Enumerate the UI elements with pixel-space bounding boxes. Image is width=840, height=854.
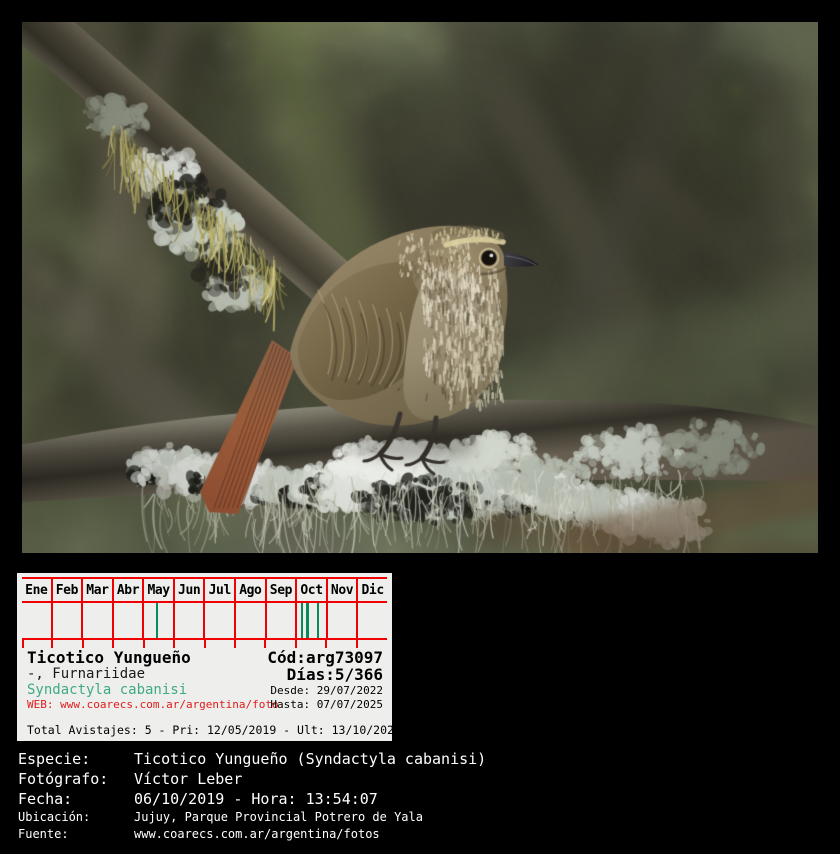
month-sighting-area xyxy=(53,603,82,638)
record-code: Cód:arg73097 xyxy=(233,649,383,666)
month-column-dic[interactable]: Dic xyxy=(358,579,387,638)
month-label: Nov xyxy=(331,584,353,597)
month-header-cell: Ago xyxy=(236,579,265,603)
month-sighting-area xyxy=(205,603,234,638)
caption-value: Ticotico Yungueño (Syndactyla cabanisi) xyxy=(134,750,486,768)
month-tick-stubs xyxy=(22,640,387,648)
month-sighting-area xyxy=(297,603,326,638)
month-label: Jun xyxy=(178,584,200,597)
month-label: Feb xyxy=(56,584,78,597)
days-count: Días:5/366 xyxy=(233,666,383,684)
month-header-cell: May xyxy=(144,579,173,603)
month-stub xyxy=(265,640,295,648)
month-header-cell: Abr xyxy=(114,579,143,603)
caption-row: Fuente:www.coarecs.com.ar/argentina/foto… xyxy=(18,827,818,844)
month-header-cell: Feb xyxy=(53,579,82,603)
caption-value[interactable]: www.coarecs.com.ar/argentina/fotos xyxy=(134,827,380,841)
month-header-cell: Dic xyxy=(358,579,387,603)
month-stub xyxy=(296,640,326,648)
sighting-tick xyxy=(306,603,309,638)
caption-label: Ubicación: xyxy=(18,810,126,824)
month-column-oct[interactable]: Oct xyxy=(297,579,328,638)
sighting-summary-card: EneFebMarAbrMayJunJulAgoSepOctNovDic Tic… xyxy=(17,573,392,741)
caption-label: Especie: xyxy=(18,750,126,768)
month-sighting-area xyxy=(144,603,173,638)
month-column-mar[interactable]: Mar xyxy=(83,579,114,638)
month-label: Sep xyxy=(270,584,292,597)
month-columns: EneFebMarAbrMayJunJulAgoSepOctNovDic xyxy=(22,579,387,638)
caption-label: Fotógrafo: xyxy=(18,770,126,788)
month-column-nov[interactable]: Nov xyxy=(328,579,359,638)
month-label: May xyxy=(147,584,169,597)
month-sighting-area xyxy=(236,603,265,638)
month-column-sep[interactable]: Sep xyxy=(267,579,298,638)
month-stub xyxy=(205,640,235,648)
month-column-may[interactable]: May xyxy=(144,579,175,638)
range-from: Desde: 29/07/2022 xyxy=(233,684,383,698)
bird-photo-canvas xyxy=(22,22,818,553)
month-sighting-area xyxy=(22,603,51,638)
sighting-tick xyxy=(301,603,303,638)
month-stub xyxy=(52,640,82,648)
month-label: Ago xyxy=(239,584,261,597)
total-sightings-line: Total Avistajes: 5 - Pri: 12/05/2019 - U… xyxy=(27,724,401,737)
month-column-ago[interactable]: Ago xyxy=(236,579,267,638)
caption-value: Jujuy, Parque Provincial Potrero de Yala xyxy=(134,810,423,824)
month-sighting-area xyxy=(358,603,387,638)
month-column-jul[interactable]: Jul xyxy=(205,579,236,638)
month-stub xyxy=(113,640,143,648)
photo-caption-block: Especie:Ticotico Yungueño (Syndactyla ca… xyxy=(18,750,818,844)
month-stub xyxy=(83,640,113,648)
sighting-tick xyxy=(156,603,158,638)
card-text-body: Ticotico Yungueño -, Furnariidae Syndact… xyxy=(17,649,392,741)
month-header-cell: Ene xyxy=(22,579,51,603)
month-label: Jul xyxy=(209,584,231,597)
month-stub xyxy=(357,640,387,648)
month-label: Mar xyxy=(86,584,108,597)
month-header-cell: Mar xyxy=(83,579,112,603)
month-sighting-area xyxy=(267,603,296,638)
month-label: Dic xyxy=(362,584,384,597)
month-stub xyxy=(326,640,356,648)
month-stub xyxy=(144,640,174,648)
month-sighting-area xyxy=(114,603,143,638)
month-header-cell: Sep xyxy=(267,579,296,603)
month-column-abr[interactable]: Abr xyxy=(114,579,145,638)
caption-value: 06/10/2019 - Hora: 13:54:07 xyxy=(134,790,378,808)
record-stats-column: Cód:arg73097 Días:5/366 Desde: 29/07/202… xyxy=(233,649,383,712)
month-header-cell: Oct xyxy=(297,579,326,603)
month-sighting-area xyxy=(175,603,204,638)
month-stub xyxy=(235,640,265,648)
sighting-tick xyxy=(317,603,319,638)
monthly-sighting-calendar: EneFebMarAbrMayJunJulAgoSepOctNovDic xyxy=(22,577,387,640)
month-stub xyxy=(174,640,204,648)
month-column-feb[interactable]: Feb xyxy=(53,579,84,638)
caption-row: Fecha:06/10/2019 - Hora: 13:54:07 xyxy=(18,790,818,810)
month-header-cell: Jun xyxy=(175,579,204,603)
caption-label: Fuente: xyxy=(18,827,126,841)
month-header-cell: Jul xyxy=(205,579,234,603)
month-sighting-area xyxy=(83,603,112,638)
caption-row: Especie:Ticotico Yungueño (Syndactyla ca… xyxy=(18,750,818,770)
caption-label: Fecha: xyxy=(18,790,126,808)
range-to: Hasta: 07/07/2025 xyxy=(233,698,383,712)
bird-photograph xyxy=(22,22,818,553)
caption-row: Ubicación:Jujuy, Parque Provincial Potre… xyxy=(18,810,818,827)
month-sighting-area xyxy=(328,603,357,638)
month-label: Abr xyxy=(117,584,139,597)
caption-value: Víctor Leber xyxy=(134,770,242,788)
month-column-ene[interactable]: Ene xyxy=(22,579,53,638)
month-stub xyxy=(22,640,52,648)
month-header-cell: Nov xyxy=(328,579,357,603)
month-column-jun[interactable]: Jun xyxy=(175,579,206,638)
month-label: Oct xyxy=(300,584,322,597)
month-label: Ene xyxy=(25,584,47,597)
caption-row: Fotógrafo:Víctor Leber xyxy=(18,770,818,790)
